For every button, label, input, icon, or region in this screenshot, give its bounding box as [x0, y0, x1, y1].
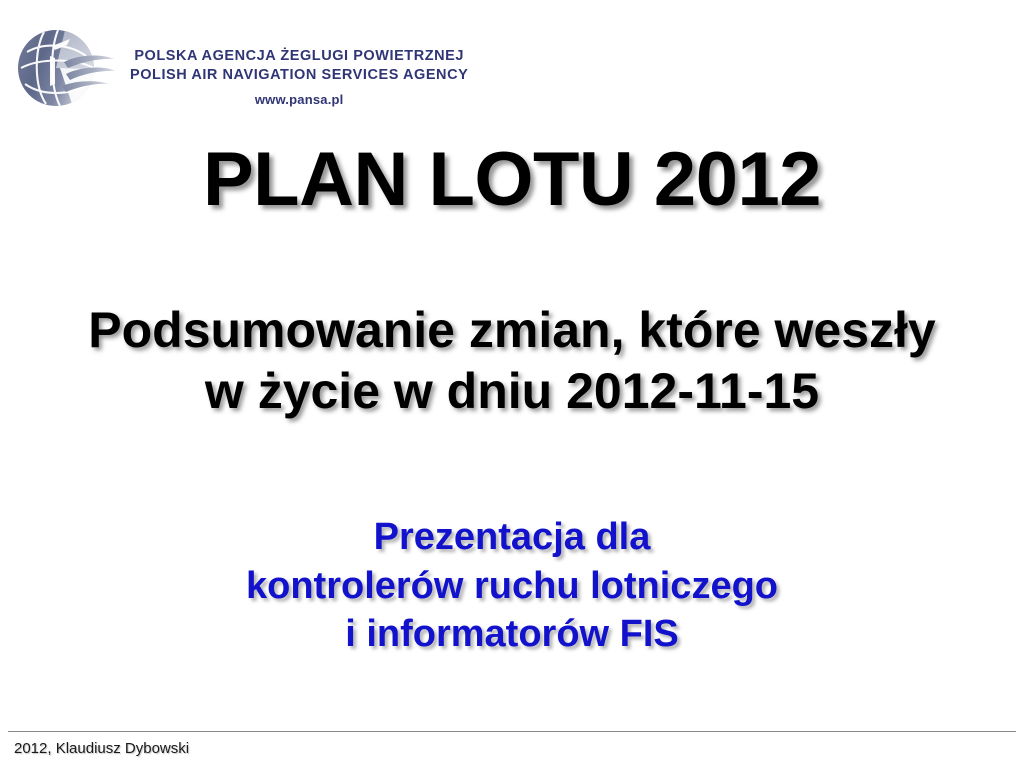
title-area: PLAN LOTU 2012 — [0, 140, 1024, 219]
audience-line-2: kontrolerów ruchu lotniczego — [0, 562, 1024, 611]
pansa-logo-block: POLSKA AGENCJA ŻEGLUGI POWIETRZNEJ POLIS… — [14, 26, 468, 110]
agency-name-polish: POLSKA AGENCJA ŻEGLUGI POWIETRZNEJ — [130, 47, 468, 66]
audience-line-1: Prezentacja dla — [0, 513, 1024, 562]
subtitle-line-1: Podsumowanie zmian, które weszły — [0, 300, 1024, 361]
slide-title: PLAN LOTU 2012 — [0, 140, 1024, 219]
presentation-slide: POLSKA AGENCJA ŻEGLUGI POWIETRZNEJ POLIS… — [0, 0, 1024, 768]
footer-divider — [8, 731, 1016, 732]
agency-name-english: POLISH AIR NAVIGATION SERVICES AGENCY — [130, 66, 468, 85]
footer-credit: 2012, Klaudiusz Dybowski — [14, 740, 189, 757]
subtitle-area: Podsumowanie zmian, które weszły w życie… — [0, 300, 1024, 422]
subtitle-line-2: w życie w dniu 2012-11-15 — [0, 361, 1024, 422]
pansa-globe-logo-icon — [14, 26, 116, 110]
agency-website: www.pansa.pl — [130, 92, 468, 109]
audience-line-3: i informatorów FIS — [0, 610, 1024, 659]
audience-area: Prezentacja dla kontrolerów ruchu lotnic… — [0, 513, 1024, 659]
pansa-logo-text: POLSKA AGENCJA ŻEGLUGI POWIETRZNEJ POLIS… — [130, 47, 468, 109]
